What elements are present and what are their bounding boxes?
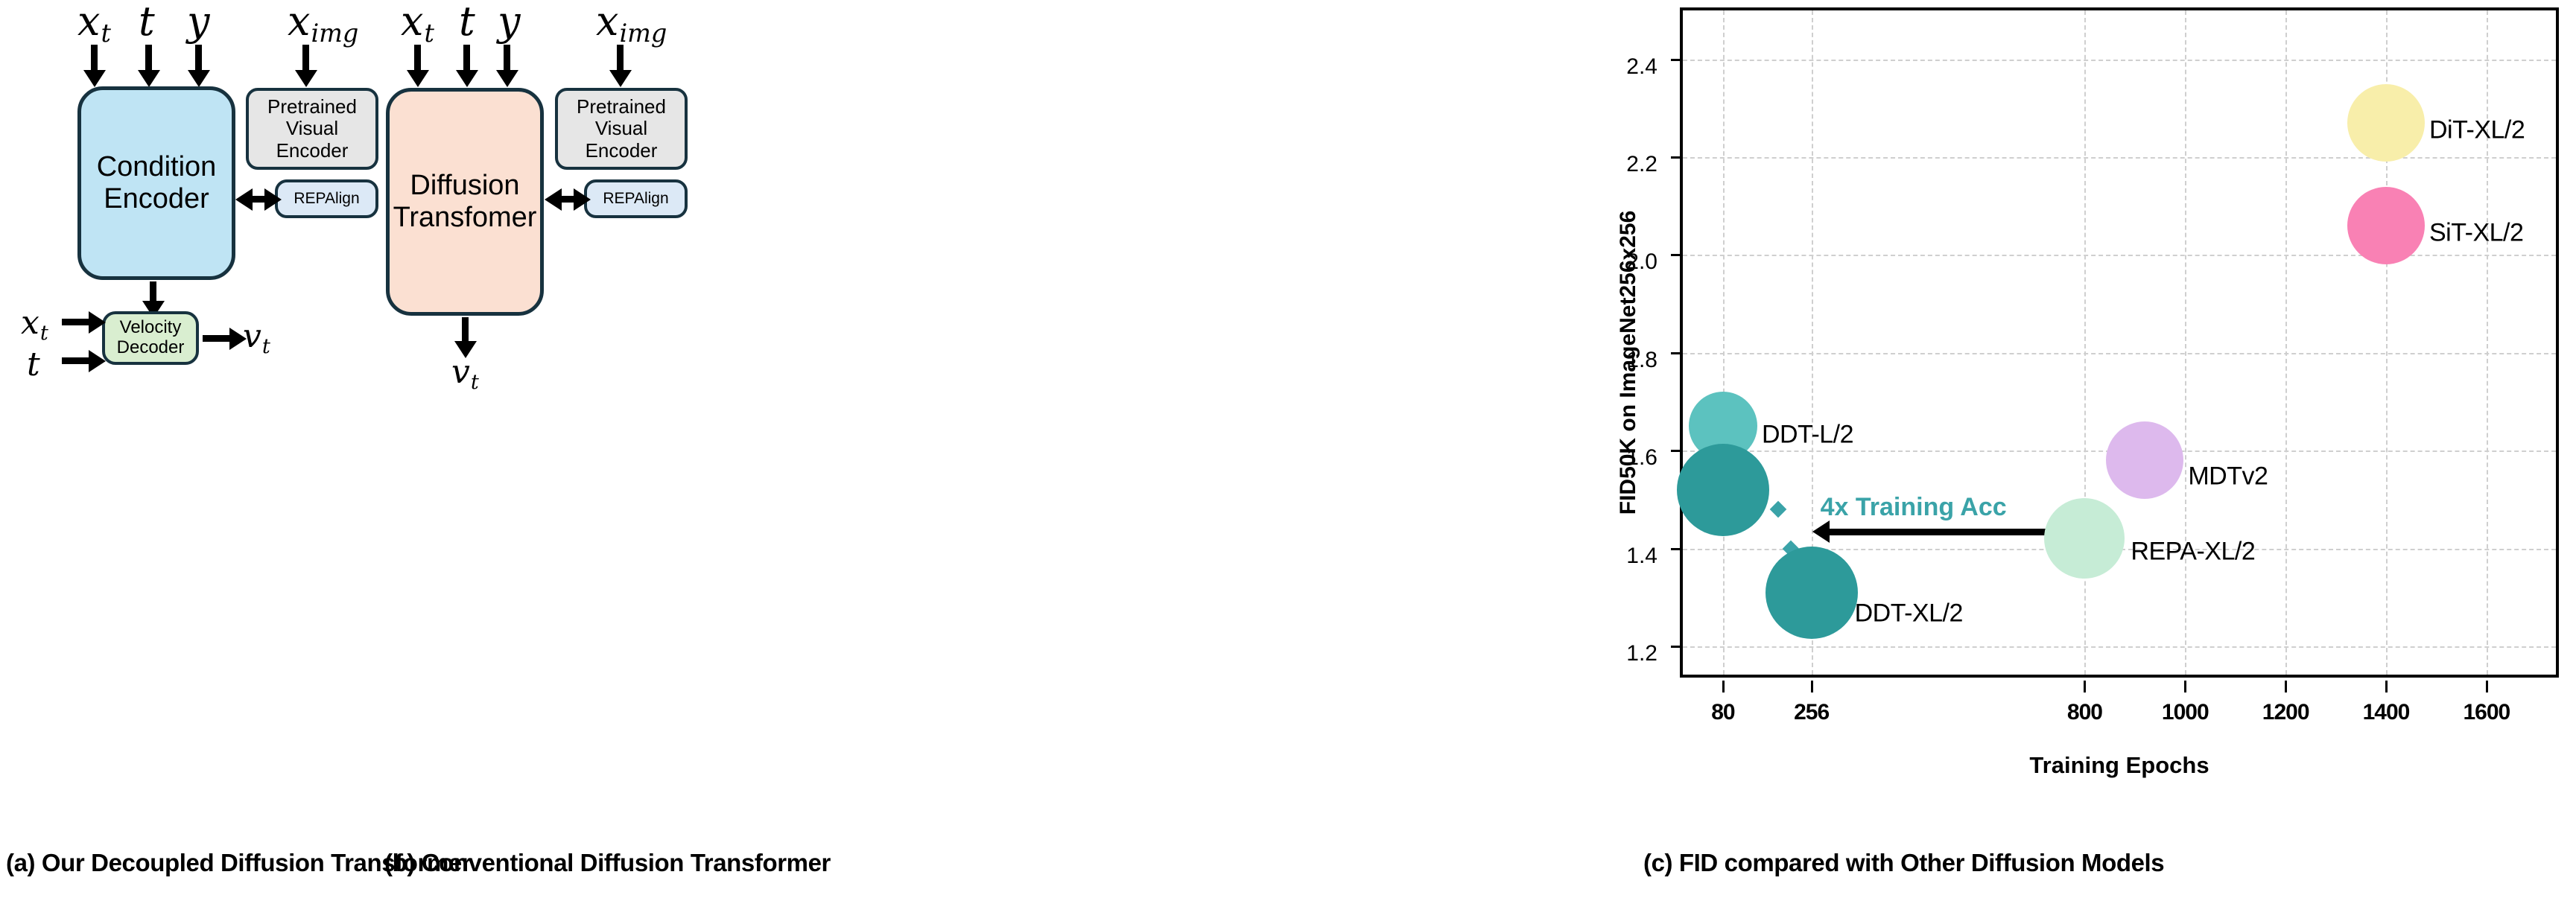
chart-y-tick-mark: [1671, 352, 1683, 354]
condition-encoder-label-line1: Condition: [97, 151, 217, 183]
chart-y-tick-mark: [1671, 254, 1683, 256]
chart-x-tick-mark: [1811, 681, 1813, 692]
input-label-y-b: y: [498, 1, 521, 42]
pretrained-visual-encoder-box-b[interactable]: Pretrained Visual Encoder: [555, 88, 688, 170]
chart-x-tick-label: 1000: [2162, 700, 2209, 725]
chart-y-tick-label: 1.4: [1626, 544, 1657, 569]
chart-x-tick-mark: [2486, 681, 2488, 692]
arrow-bidirectional-a: [251, 196, 266, 203]
repalign-label-b: REPAlign: [603, 190, 668, 208]
pretrained-encoder-line3-b: Encoder: [586, 140, 658, 162]
chart-bubble[interactable]: [2347, 84, 2425, 162]
pretrained-visual-encoder-box-a[interactable]: Pretrained Visual Encoder: [246, 88, 378, 170]
caption-panel-c: (c) FID compared with Other Diffusion Mo…: [1643, 849, 2164, 877]
chart-x-tick-label: 256: [1794, 700, 1829, 725]
chart-bubble-label: DDT-XL/2: [1855, 599, 1963, 628]
arrow-xt-a: [91, 45, 98, 71]
decoder-input-label-t: t: [27, 348, 40, 381]
arrow-bidirectional-b: [560, 196, 575, 203]
figure-root: xt t y ximg Condition Encoder Pretrained…: [0, 0, 2576, 898]
chart-gridline-v: [1723, 10, 1725, 675]
arrow-xt-b: [414, 45, 421, 71]
diffusion-transformer-label-line2: Transfomer: [393, 202, 537, 234]
input-label-ximg-b: ximg: [596, 1, 667, 46]
chart-annotation-arrow: [1828, 529, 2069, 535]
arrow-y-b: [504, 45, 510, 71]
chart-y-tick-mark: [1671, 450, 1683, 452]
arrow-encoder-to-decoder-a: [150, 281, 156, 302]
chart-annotation-diamond: [1770, 501, 1787, 518]
arrow-ximg-a: [302, 45, 309, 71]
chart-x-tick-label: 800: [2067, 700, 2102, 725]
chart-bubble-label: MDTv2: [2188, 462, 2268, 491]
chart-y-tick-mark: [1671, 646, 1683, 648]
pretrained-encoder-line3-a: Encoder: [276, 140, 349, 162]
repalign-box-a[interactable]: REPAlign: [275, 179, 378, 218]
chart-x-tick-label: 1600: [2463, 700, 2510, 725]
chart-x-tick-mark: [2084, 681, 2086, 692]
chart-x-tick-label: 1400: [2363, 700, 2410, 725]
velocity-decoder-label-line1: Velocity: [120, 318, 182, 338]
chart-y-tick-label: 2.2: [1626, 152, 1657, 177]
chart-bubble[interactable]: [2044, 498, 2125, 579]
input-label-ximg-a: ximg: [288, 1, 358, 46]
pretrained-encoder-line1-b: Pretrained: [577, 96, 666, 118]
input-label-xt-b: xt: [401, 1, 434, 46]
condition-encoder-box[interactable]: Condition Encoder: [77, 86, 235, 280]
chart-gridline-h: [1683, 353, 2556, 354]
chart-bubble[interactable]: [2106, 421, 2183, 499]
arrow-decoder-output: [203, 335, 231, 342]
chart-y-tick-label: 1.6: [1626, 445, 1657, 471]
chart-gridline-h: [1683, 646, 2556, 648]
chart-gridline-h: [1683, 157, 2556, 159]
input-label-xt-a: xt: [77, 1, 111, 46]
chart-x-tick-mark: [1722, 681, 1725, 692]
pretrained-encoder-line2-a: Visual: [286, 118, 338, 139]
chart-x-tick-label: 1200: [2262, 700, 2309, 725]
decoder-input-label-xt: xt: [21, 307, 48, 343]
chart-plot-area: 1.21.41.61.82.02.22.48025680010001200140…: [1680, 7, 2559, 678]
chart-gridline-v: [2185, 10, 2186, 675]
arrow-t-to-decoder: [62, 357, 90, 364]
chart-y-tick-label: 2.0: [1626, 249, 1657, 275]
pretrained-encoder-line2-b: Visual: [595, 118, 647, 139]
input-label-t-a: t: [139, 1, 155, 42]
arrow-t-b: [463, 45, 470, 71]
condition-encoder-label-line2: Encoder: [104, 183, 209, 215]
arrow-t-a: [145, 45, 152, 71]
chart-y-tick-mark: [1671, 156, 1683, 159]
chart-bubble[interactable]: [1677, 444, 1769, 536]
chart-bubble[interactable]: [1766, 547, 1858, 639]
repalign-box-b[interactable]: REPAlign: [584, 179, 688, 218]
chart-y-tick-mark: [1671, 59, 1683, 61]
chart-x-tick-label: 80: [1711, 700, 1734, 725]
input-label-y-a: y: [187, 1, 210, 42]
output-label-vt-a: vt: [243, 320, 270, 357]
diffusion-transformer-box[interactable]: Diffusion Transfomer: [386, 88, 544, 316]
chart-annotation-text: 4x Training Acc: [1821, 493, 2007, 522]
chart-gridline-v: [2285, 10, 2287, 675]
output-label-vt-b: vt: [451, 356, 479, 392]
arrow-y-a: [195, 45, 202, 71]
chart-bubble-label: DDT-L/2: [1762, 421, 1853, 450]
velocity-decoder-box[interactable]: Velocity Decoder: [102, 311, 199, 365]
chart-x-tick-mark: [2184, 681, 2186, 692]
chart-bubble-label: REPA-XL/2: [2131, 538, 2255, 567]
repalign-label-a: REPAlign: [294, 190, 359, 208]
chart-bubble[interactable]: [2347, 187, 2425, 264]
chart-x-axis-label: Training Epochs: [2029, 752, 2209, 779]
arrow-transformer-output-b: [462, 317, 469, 343]
chart-gridline-h: [1683, 255, 2556, 256]
chart-x-tick-mark: [2385, 681, 2388, 692]
arrow-ximg-b: [617, 45, 624, 71]
caption-panel-b: (b) Conventional Diffusion Transformer: [384, 849, 831, 877]
pretrained-encoder-line1-a: Pretrained: [267, 96, 357, 118]
panel-c: FID50K on ImageNet256x256 Training Epoch…: [1639, 0, 2576, 898]
chart-gridline-h: [1683, 60, 2556, 61]
chart-gridline-v: [2487, 10, 2488, 675]
chart-y-tick-label: 1.2: [1626, 641, 1657, 666]
arrow-xt-to-decoder: [62, 319, 90, 325]
chart-x-tick-mark: [2285, 681, 2287, 692]
chart-y-tick-mark: [1671, 548, 1683, 550]
input-label-t-b: t: [459, 1, 475, 42]
diffusion-transformer-label-line1: Diffusion: [410, 170, 519, 202]
chart-bubble-label: SiT-XL/2: [2429, 219, 2523, 248]
chart-y-tick-label: 1.8: [1626, 348, 1657, 373]
velocity-decoder-label-line2: Decoder: [117, 338, 185, 358]
chart-bubble-label: DiT-XL/2: [2429, 116, 2525, 145]
chart-y-tick-label: 2.4: [1626, 54, 1657, 80]
